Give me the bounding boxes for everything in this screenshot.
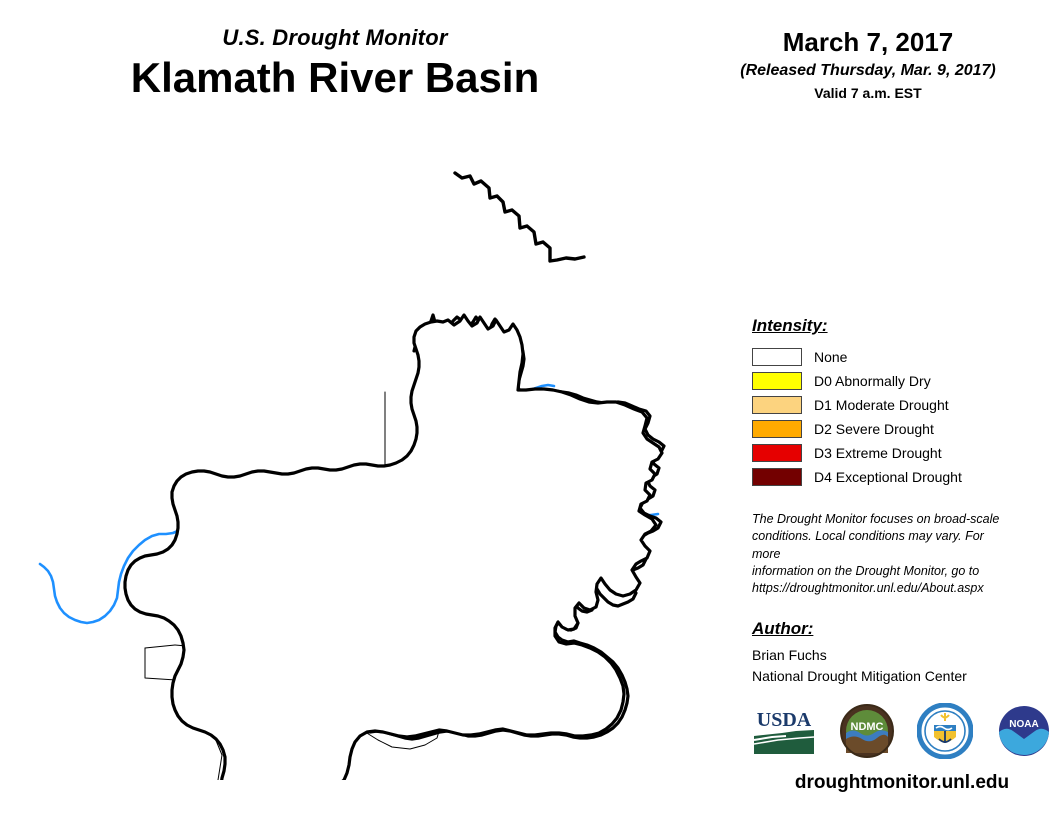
legend-and-info-panel: Intensity: None D0 Abnormally Dry D1 Mod…	[752, 316, 1052, 687]
valid-time-note: Valid 7 a.m. EST	[680, 85, 1056, 102]
author-organization: National Drought Mitigation Center	[752, 667, 1052, 687]
legend-swatch-none	[752, 348, 802, 366]
legend-label-d1: D1 Moderate Drought	[814, 397, 949, 413]
author-heading: Author:	[752, 619, 1052, 639]
legend-item-d0[interactable]: D0 Abnormally Dry	[752, 369, 1052, 393]
legend-heading: Intensity:	[752, 316, 1052, 336]
legend-swatch-d2	[752, 420, 802, 438]
klamath-river-basin-map[interactable]	[0, 140, 720, 780]
released-note: (Released Thursday, Mar. 9, 2017)	[680, 61, 1056, 80]
usda-logo[interactable]: USDA	[752, 704, 816, 763]
legend-label-d4: D4 Exceptional Drought	[814, 469, 962, 485]
ndmc-logo-text: NDMC	[850, 721, 883, 733]
disclaimer-line-2: conditions. Local conditions may vary. F…	[752, 528, 1014, 563]
commerce-seal-logo[interactable]	[917, 703, 973, 764]
drought-monitor-subtitle: U.S. Drought Monitor	[0, 26, 670, 50]
disclaimer-line-1: The Drought Monitor focuses on broad-sca…	[752, 511, 1014, 528]
noaa-logo-text: NOAA	[1009, 719, 1038, 730]
legend-label-none: None	[814, 349, 847, 365]
disclaimer-text: The Drought Monitor focuses on broad-sca…	[752, 511, 1014, 597]
legend-swatch-d1	[752, 396, 802, 414]
legend-label-d2: D2 Severe Drought	[814, 421, 934, 437]
title-block: U.S. Drought Monitor Klamath River Basin	[0, 26, 670, 101]
noaa-logo[interactable]: NOAA	[996, 703, 1052, 764]
usda-logo-text: USDA	[757, 709, 812, 731]
date-block: March 7, 2017 (Released Thursday, Mar. 9…	[680, 28, 1056, 102]
legend-swatch-d3	[752, 444, 802, 462]
disclaimer-line-3: information on the Drought Monitor, go t…	[752, 563, 1014, 580]
partner-logos: USDA NDMC	[752, 703, 1052, 764]
legend-swatch-d4	[752, 468, 802, 486]
ndmc-logo[interactable]: NDMC	[839, 703, 895, 764]
legend-swatch-d0	[752, 372, 802, 390]
legend-label-d0: D0 Abnormally Dry	[814, 373, 931, 389]
website-url[interactable]: droughtmonitor.unl.edu	[752, 772, 1052, 794]
author-name: Brian Fuchs	[752, 646, 1052, 666]
disclaimer-about-link[interactable]: https://droughtmonitor.unl.edu/About.asp…	[752, 580, 1014, 597]
legend-item-d3[interactable]: D3 Extreme Drought	[752, 441, 1052, 465]
page-title: Klamath River Basin	[0, 54, 670, 101]
release-date: March 7, 2017	[680, 28, 1056, 58]
legend-item-d2[interactable]: D2 Severe Drought	[752, 417, 1052, 441]
legend-item-d1[interactable]: D1 Moderate Drought	[752, 393, 1052, 417]
legend-label-d3: D3 Extreme Drought	[814, 445, 942, 461]
legend-item-none[interactable]: None	[752, 345, 1052, 369]
legend-item-d4[interactable]: D4 Exceptional Drought	[752, 465, 1052, 489]
